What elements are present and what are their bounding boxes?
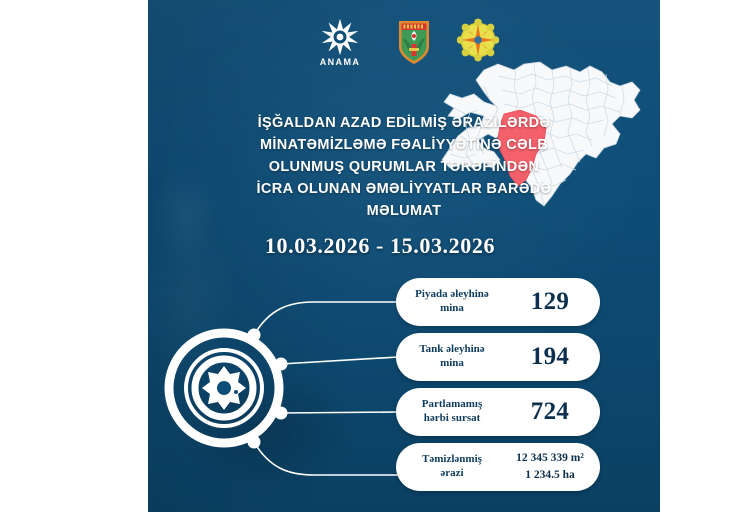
- stat-label-line2: ərazi: [440, 467, 463, 479]
- anama-wordmark: ANAMA: [320, 57, 361, 67]
- stat-label-line2: mina: [440, 357, 464, 369]
- stat-pill[interactable]: Piyada əleyhinə mina 129: [396, 278, 600, 326]
- infographic-panel: ANAMA: [148, 0, 660, 512]
- eight-pointed-star-icon: [321, 18, 359, 56]
- stat-value-secondary: 1 234.5 ha: [525, 469, 575, 481]
- ring-hub: [169, 333, 279, 443]
- connector-line-2: [281, 357, 398, 364]
- stat-value: 129: [500, 288, 600, 316]
- stat-label: Təmizlənmiş ərazi: [396, 453, 500, 481]
- stat-value: 724: [500, 398, 600, 426]
- shield-emblem-icon: [397, 18, 431, 66]
- stat-pill[interactable]: Partlamamış hərbi sursat 724: [396, 388, 600, 436]
- stat-label: Tank əleyhinə mina: [396, 343, 500, 371]
- stat-label-line1: Tank əleyhinə: [419, 343, 484, 355]
- page-title: İŞĞALDAN AZAD EDİLMİŞ ƏRAZİLƏRDƏ MİNATƏM…: [170, 112, 638, 222]
- connector-line-4: [254, 442, 398, 475]
- headline-line-2: MİNATƏMİZLƏMƏ FƏALİYYƏTİNƏ CƏLB: [170, 134, 638, 156]
- compass-star-wreath-icon: [457, 18, 499, 62]
- stat-value: 194: [500, 343, 600, 371]
- anama-logo: ANAMA: [309, 18, 371, 67]
- stat-label-line1: Təmizlənmiş: [422, 453, 482, 465]
- connector-line-3: [281, 412, 398, 413]
- logo-row: ANAMA: [148, 18, 660, 71]
- headline-line-5: MƏLUMAT: [170, 200, 638, 222]
- stat-value-primary: 12 345 339 m²: [516, 452, 584, 464]
- stat-label-line1: Piyada əleyhinə: [415, 288, 489, 300]
- stat-label-line2: hərbi sursat: [424, 412, 481, 424]
- ministry-shield-logo: [397, 18, 431, 71]
- date-range-label: 10.03.2026 - 15.03.2026: [170, 233, 590, 259]
- gold-compass-logo: [457, 18, 499, 67]
- stat-pill[interactable]: Təmizlənmiş ərazi 12 345 339 m² 1 234.5 …: [396, 443, 600, 491]
- headline-line-1: İŞĞALDAN AZAD EDİLMİŞ ƏRAZİLƏRDƏ: [170, 112, 638, 134]
- stat-value: 12 345 339 m² 1 234.5 ha: [500, 450, 600, 483]
- stat-label: Partlamamış hərbi sursat: [396, 398, 500, 426]
- stat-label-line1: Partlamamış: [422, 398, 482, 410]
- connector-line-1: [254, 302, 398, 335]
- headline-line-4: İCRA OLUNAN ƏMƏLİYYATLAR BARƏDƏ: [170, 178, 638, 200]
- stat-label-line2: mina: [440, 302, 464, 314]
- headline-line-3: OLUNMUŞ QURUMLAR TƏRƏFİNDƏN: [170, 156, 638, 178]
- stat-pill[interactable]: Tank əleyhinə mina 194: [396, 333, 600, 381]
- stat-label: Piyada əleyhinə mina: [396, 288, 500, 316]
